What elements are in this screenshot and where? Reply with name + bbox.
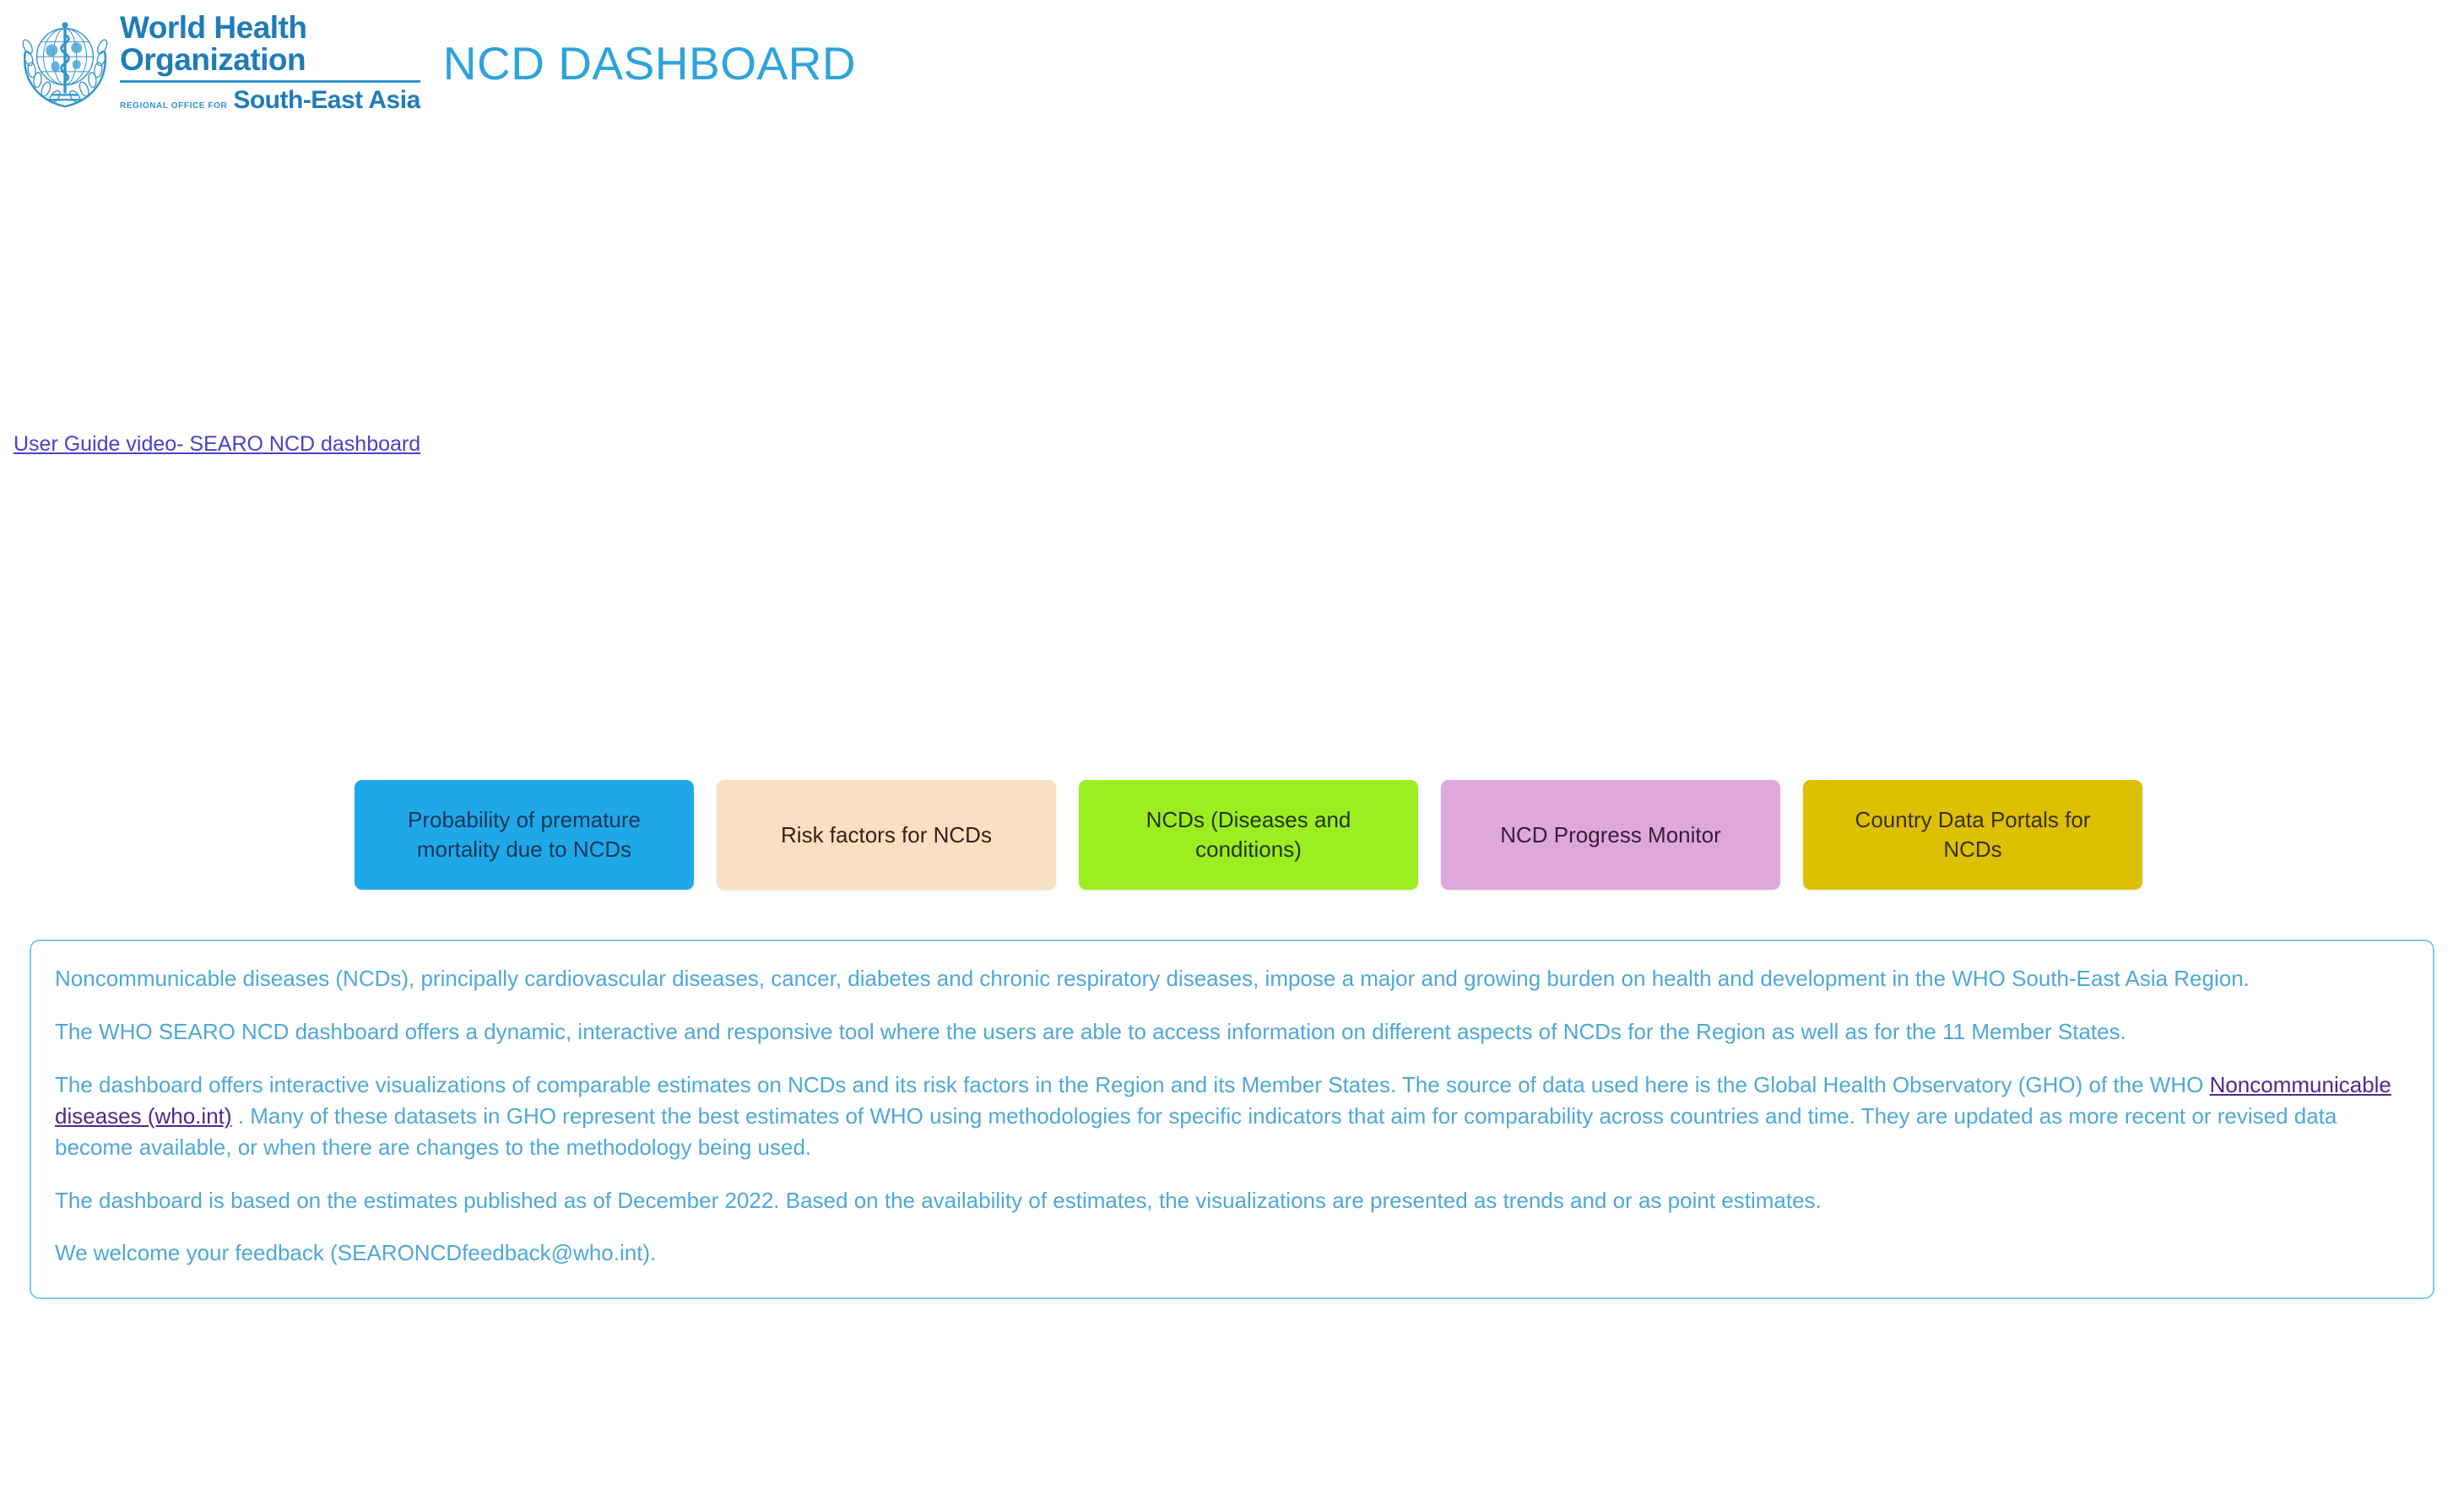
nav-button-label-line1: Country Data Portals for (1855, 805, 2091, 835)
user-guide-video-link[interactable]: User Guide video- SEARO NCD dashboard (14, 432, 420, 457)
info-paragraph-3: The dashboard offers interactive visuali… (55, 1069, 2409, 1163)
nav-button-label-line2: conditions) (1146, 835, 1351, 864)
nav-button-label-line1: Probability of premature (408, 805, 641, 835)
nav-button-ncds-diseases-conditions[interactable]: NCDs (Diseases and conditions) (1079, 780, 1418, 890)
nav-button-row: Probability of premature mortality due t… (355, 780, 2142, 890)
who-regional-office-label: REGIONAL OFFICE FOR (120, 101, 227, 115)
page-title: NCD DASHBOARD (443, 36, 856, 90)
page-header: World Health Organization REGIONAL OFFIC… (0, 0, 856, 127)
who-emblem-icon (15, 14, 115, 113)
nav-button-label-line2: NCDs (1855, 835, 2091, 864)
who-region-label: South-East Asia (233, 86, 420, 115)
nav-button-country-data-portals[interactable]: Country Data Portals for NCDs (1803, 780, 2142, 890)
info-paragraph-1: Noncommunicable diseases (NCDs), princip… (55, 963, 2409, 994)
nav-button-label-line1: NCDs (Diseases and (1146, 805, 1351, 835)
who-wordmark: World Health Organization REGIONAL OFFIC… (120, 12, 420, 114)
who-wordmark-divider (120, 80, 420, 83)
nav-button-label-line2: mortality due to NCDs (408, 835, 641, 864)
nav-button-ncd-progress-monitor[interactable]: NCD Progress Monitor (1441, 780, 1780, 890)
info-paragraph-3-text-before: The dashboard offers interactive visuali… (55, 1072, 2210, 1097)
nav-button-label-line1: Risk factors for NCDs (781, 820, 992, 850)
info-paragraph-5: We welcome your feedback (SEARONCDfeedba… (55, 1237, 2409, 1269)
nav-button-premature-mortality[interactable]: Probability of premature mortality due t… (355, 780, 694, 890)
nav-button-label-line1: NCD Progress Monitor (1500, 820, 1721, 850)
who-org-line-2: Organization (120, 44, 420, 76)
info-panel: Noncommunicable diseases (NCDs), princip… (30, 940, 2434, 1299)
nav-button-risk-factors[interactable]: Risk factors for NCDs (717, 780, 1056, 890)
who-org-line-1: World Health (120, 12, 420, 44)
info-paragraph-2: The WHO SEARO NCD dashboard offers a dyn… (55, 1016, 2409, 1048)
info-paragraph-3-text-after: . Many of these datasets in GHO represen… (55, 1103, 2337, 1160)
who-logo: World Health Organization REGIONAL OFFIC… (0, 12, 420, 114)
info-paragraph-4: The dashboard is based on the estimates … (55, 1185, 2409, 1216)
